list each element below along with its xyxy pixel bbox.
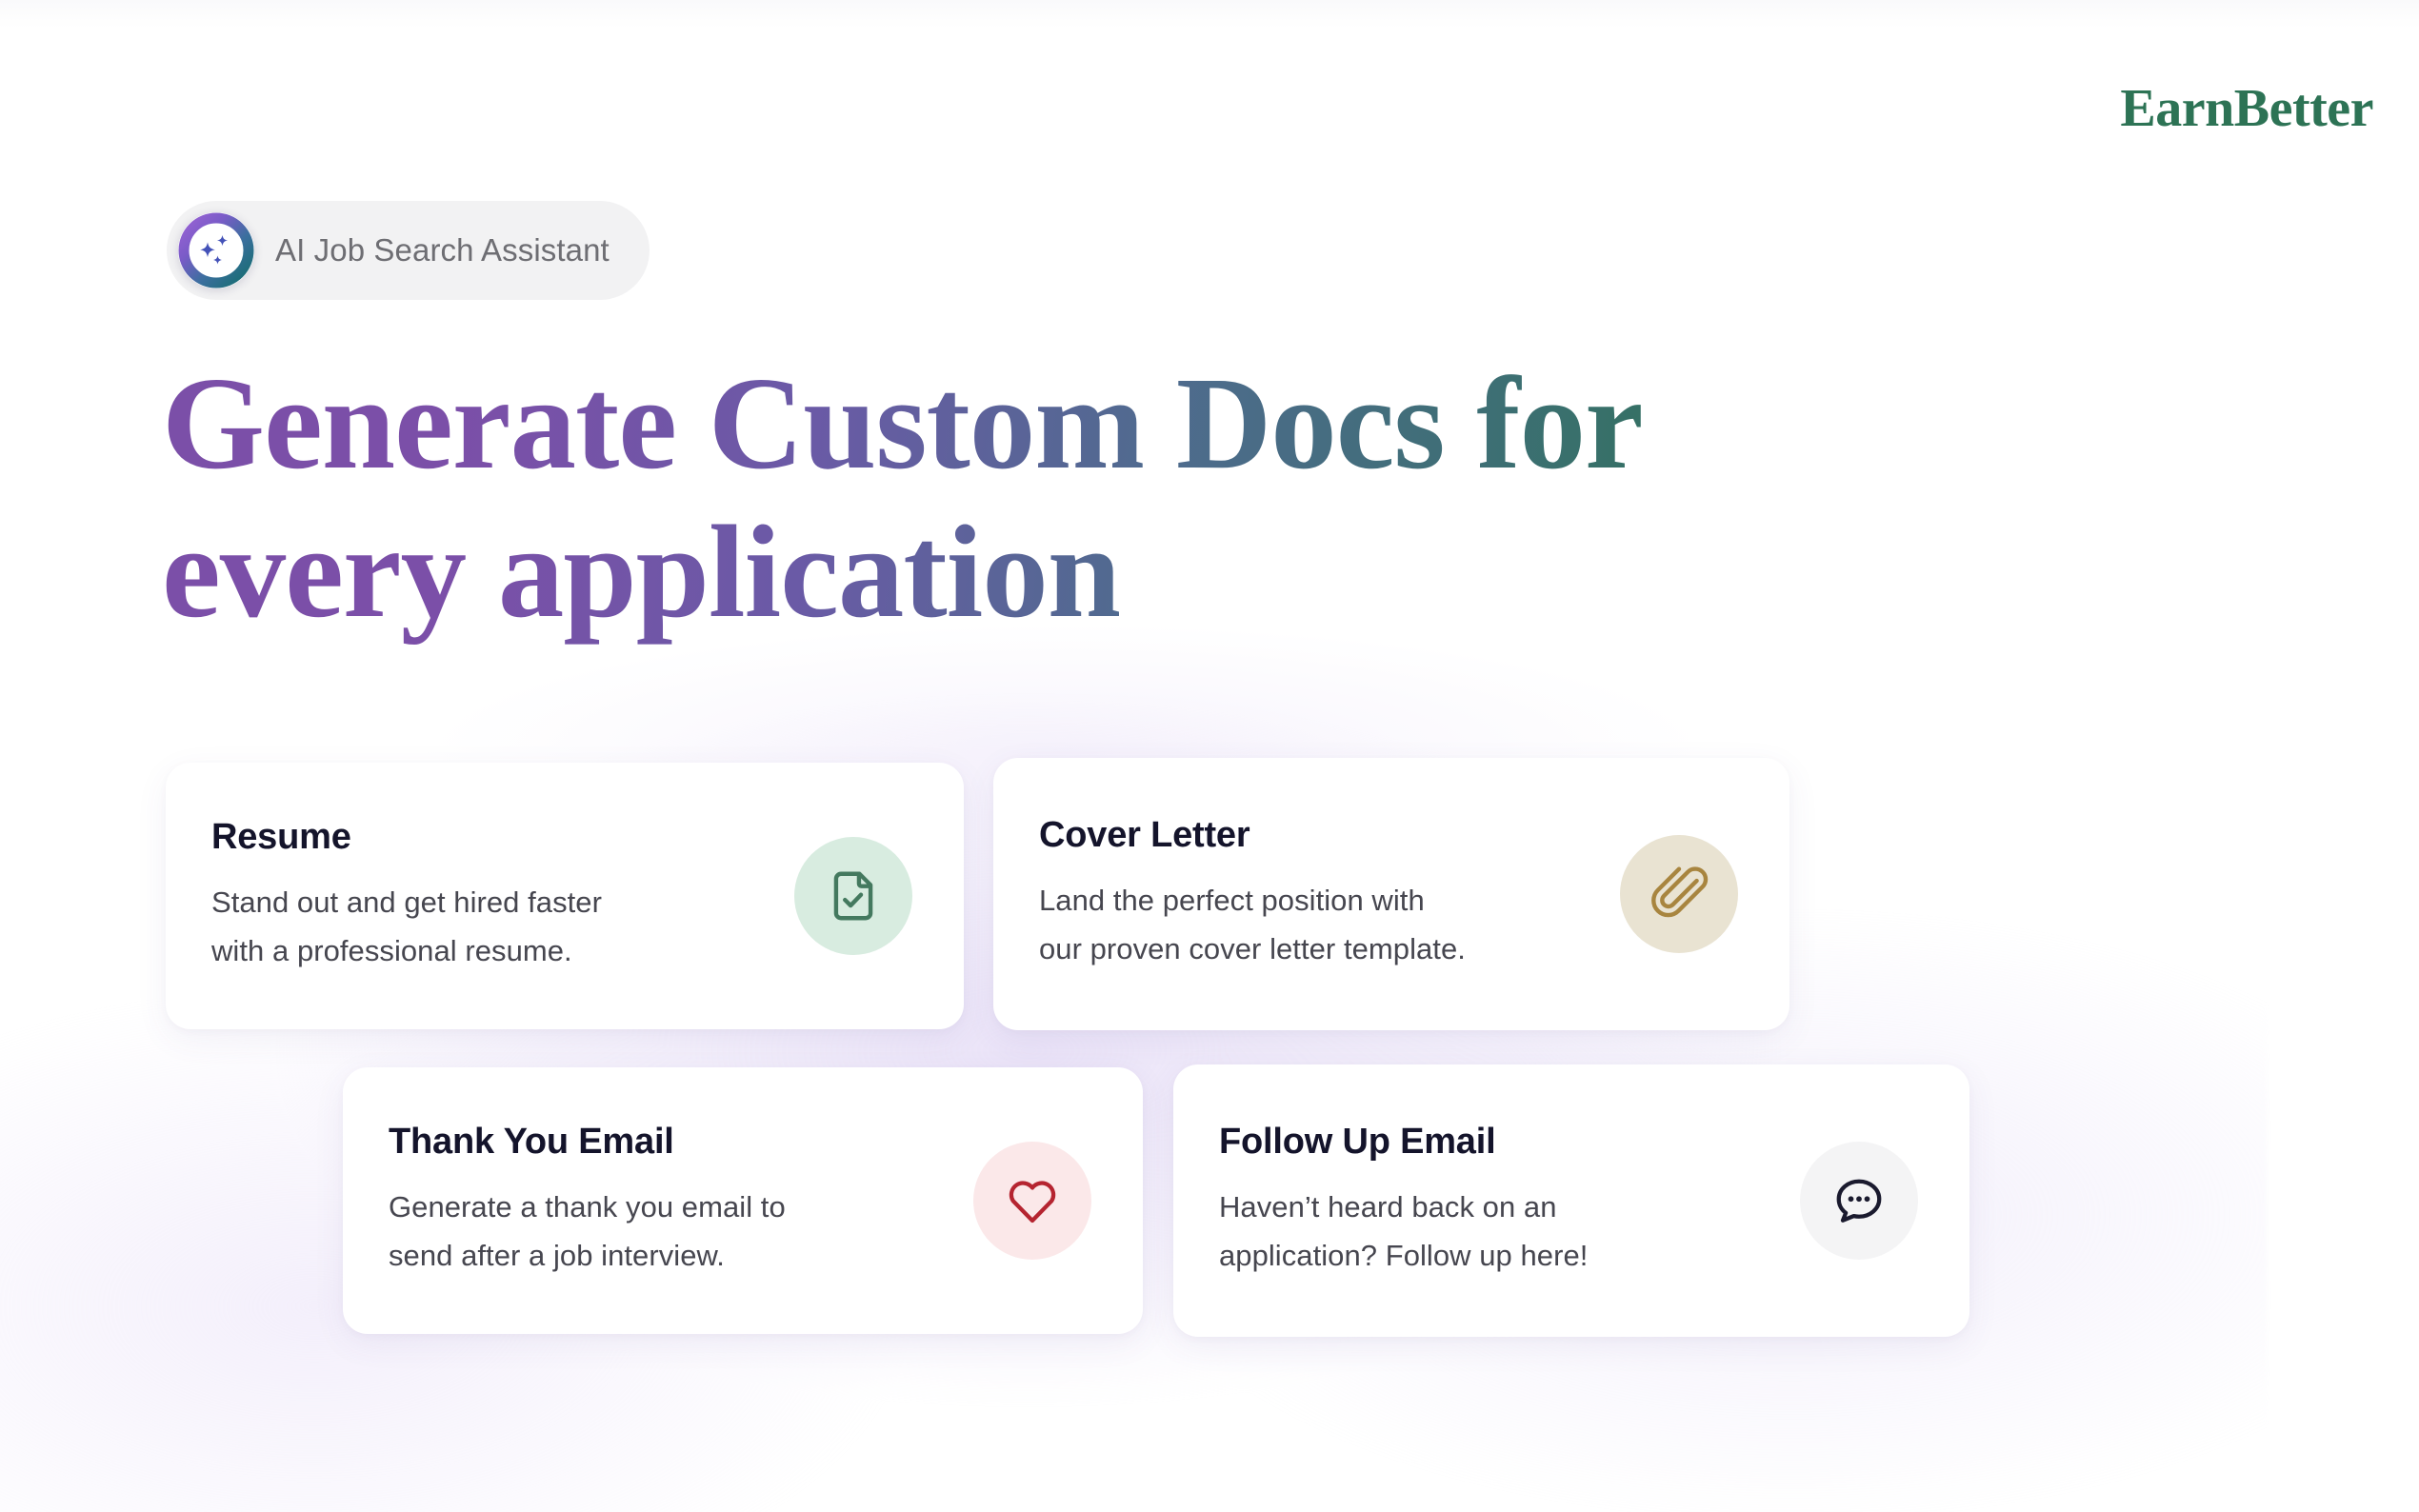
card-follow-up-email-text: Follow Up Email Haven’t heard back on an… bbox=[1219, 1122, 1588, 1279]
card-cover-letter-description: Land the perfect position with our prove… bbox=[1039, 877, 1466, 972]
card-thank-you-email-title: Thank You Email bbox=[389, 1122, 786, 1163]
card-thank-you-email-text: Thank You Email Generate a thank you ema… bbox=[389, 1122, 786, 1279]
card-thank-you-email-description: Generate a thank you email to send after… bbox=[389, 1184, 786, 1279]
card-follow-up-email-desc-line-2: application? Follow up here! bbox=[1219, 1239, 1588, 1272]
card-thank-you-email-desc-line-1: Generate a thank you email to bbox=[389, 1190, 786, 1224]
card-follow-up-email[interactable]: Follow Up Email Haven’t heard back on an… bbox=[1173, 1064, 1969, 1337]
page-root: EarnBetter bbox=[0, 0, 2419, 1512]
heart-icon bbox=[973, 1142, 1091, 1260]
card-resume-text: Resume Stand out and get hired faster wi… bbox=[211, 817, 602, 974]
card-follow-up-email-description: Haven’t heard back on an application? Fo… bbox=[1219, 1184, 1588, 1279]
card-cover-letter-text: Cover Letter Land the perfect position w… bbox=[1039, 815, 1466, 972]
card-follow-up-email-title: Follow Up Email bbox=[1219, 1122, 1588, 1163]
card-follow-up-email-desc-line-1: Haven’t heard back on an bbox=[1219, 1190, 1557, 1224]
card-resume-title: Resume bbox=[211, 817, 602, 858]
paperclip-icon bbox=[1620, 835, 1738, 953]
doc-type-card-grid: Resume Stand out and get hired faster wi… bbox=[0, 0, 2419, 1512]
card-thank-you-email[interactable]: Thank You Email Generate a thank you ema… bbox=[343, 1067, 1143, 1334]
card-cover-letter-desc-line-2: our proven cover letter template. bbox=[1039, 932, 1466, 965]
card-cover-letter[interactable]: Cover Letter Land the perfect position w… bbox=[993, 758, 1789, 1030]
document-check-icon bbox=[794, 837, 912, 955]
card-resume-desc-line-1: Stand out and get hired faster bbox=[211, 885, 602, 919]
card-thank-you-email-desc-line-2: send after a job interview. bbox=[389, 1239, 725, 1272]
card-cover-letter-desc-line-1: Land the perfect position with bbox=[1039, 884, 1425, 917]
card-resume-desc-line-2: with a professional resume. bbox=[211, 934, 572, 967]
chat-bubble-dots-icon bbox=[1800, 1142, 1918, 1260]
card-resume-description: Stand out and get hired faster with a pr… bbox=[211, 879, 602, 974]
card-cover-letter-title: Cover Letter bbox=[1039, 815, 1466, 856]
card-resume[interactable]: Resume Stand out and get hired faster wi… bbox=[166, 763, 964, 1029]
